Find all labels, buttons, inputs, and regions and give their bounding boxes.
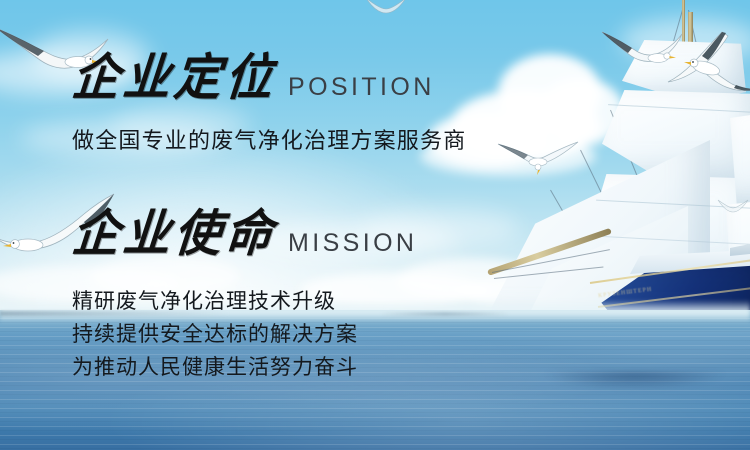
text-overlay: 企业定位 POSITION 做全国专业的废气净化治理方案服务商 企业使命 MIS…	[0, 0, 750, 450]
mission-line-3: 为推动人民健康生活努力奋斗	[72, 357, 358, 378]
mission-heading-row: 企业使命 MISSION	[70, 212, 417, 259]
company-position-mission-banner: КРУЗЕНШТЕРН	[0, 0, 750, 450]
position-heading-row: 企业定位 POSITION	[70, 56, 435, 103]
position-heading-cn: 企业定位	[70, 53, 278, 103]
mission-heading-cn: 企业使命	[70, 209, 278, 259]
mission-line-1: 精研废气净化治理技术升级	[72, 291, 336, 312]
mission-line-2: 持续提供安全达标的解决方案	[72, 324, 358, 345]
mission-heading-en: MISSION	[288, 231, 417, 259]
position-heading-en: POSITION	[288, 75, 435, 103]
position-line-1: 做全国专业的废气净化治理方案服务商	[72, 131, 466, 153]
